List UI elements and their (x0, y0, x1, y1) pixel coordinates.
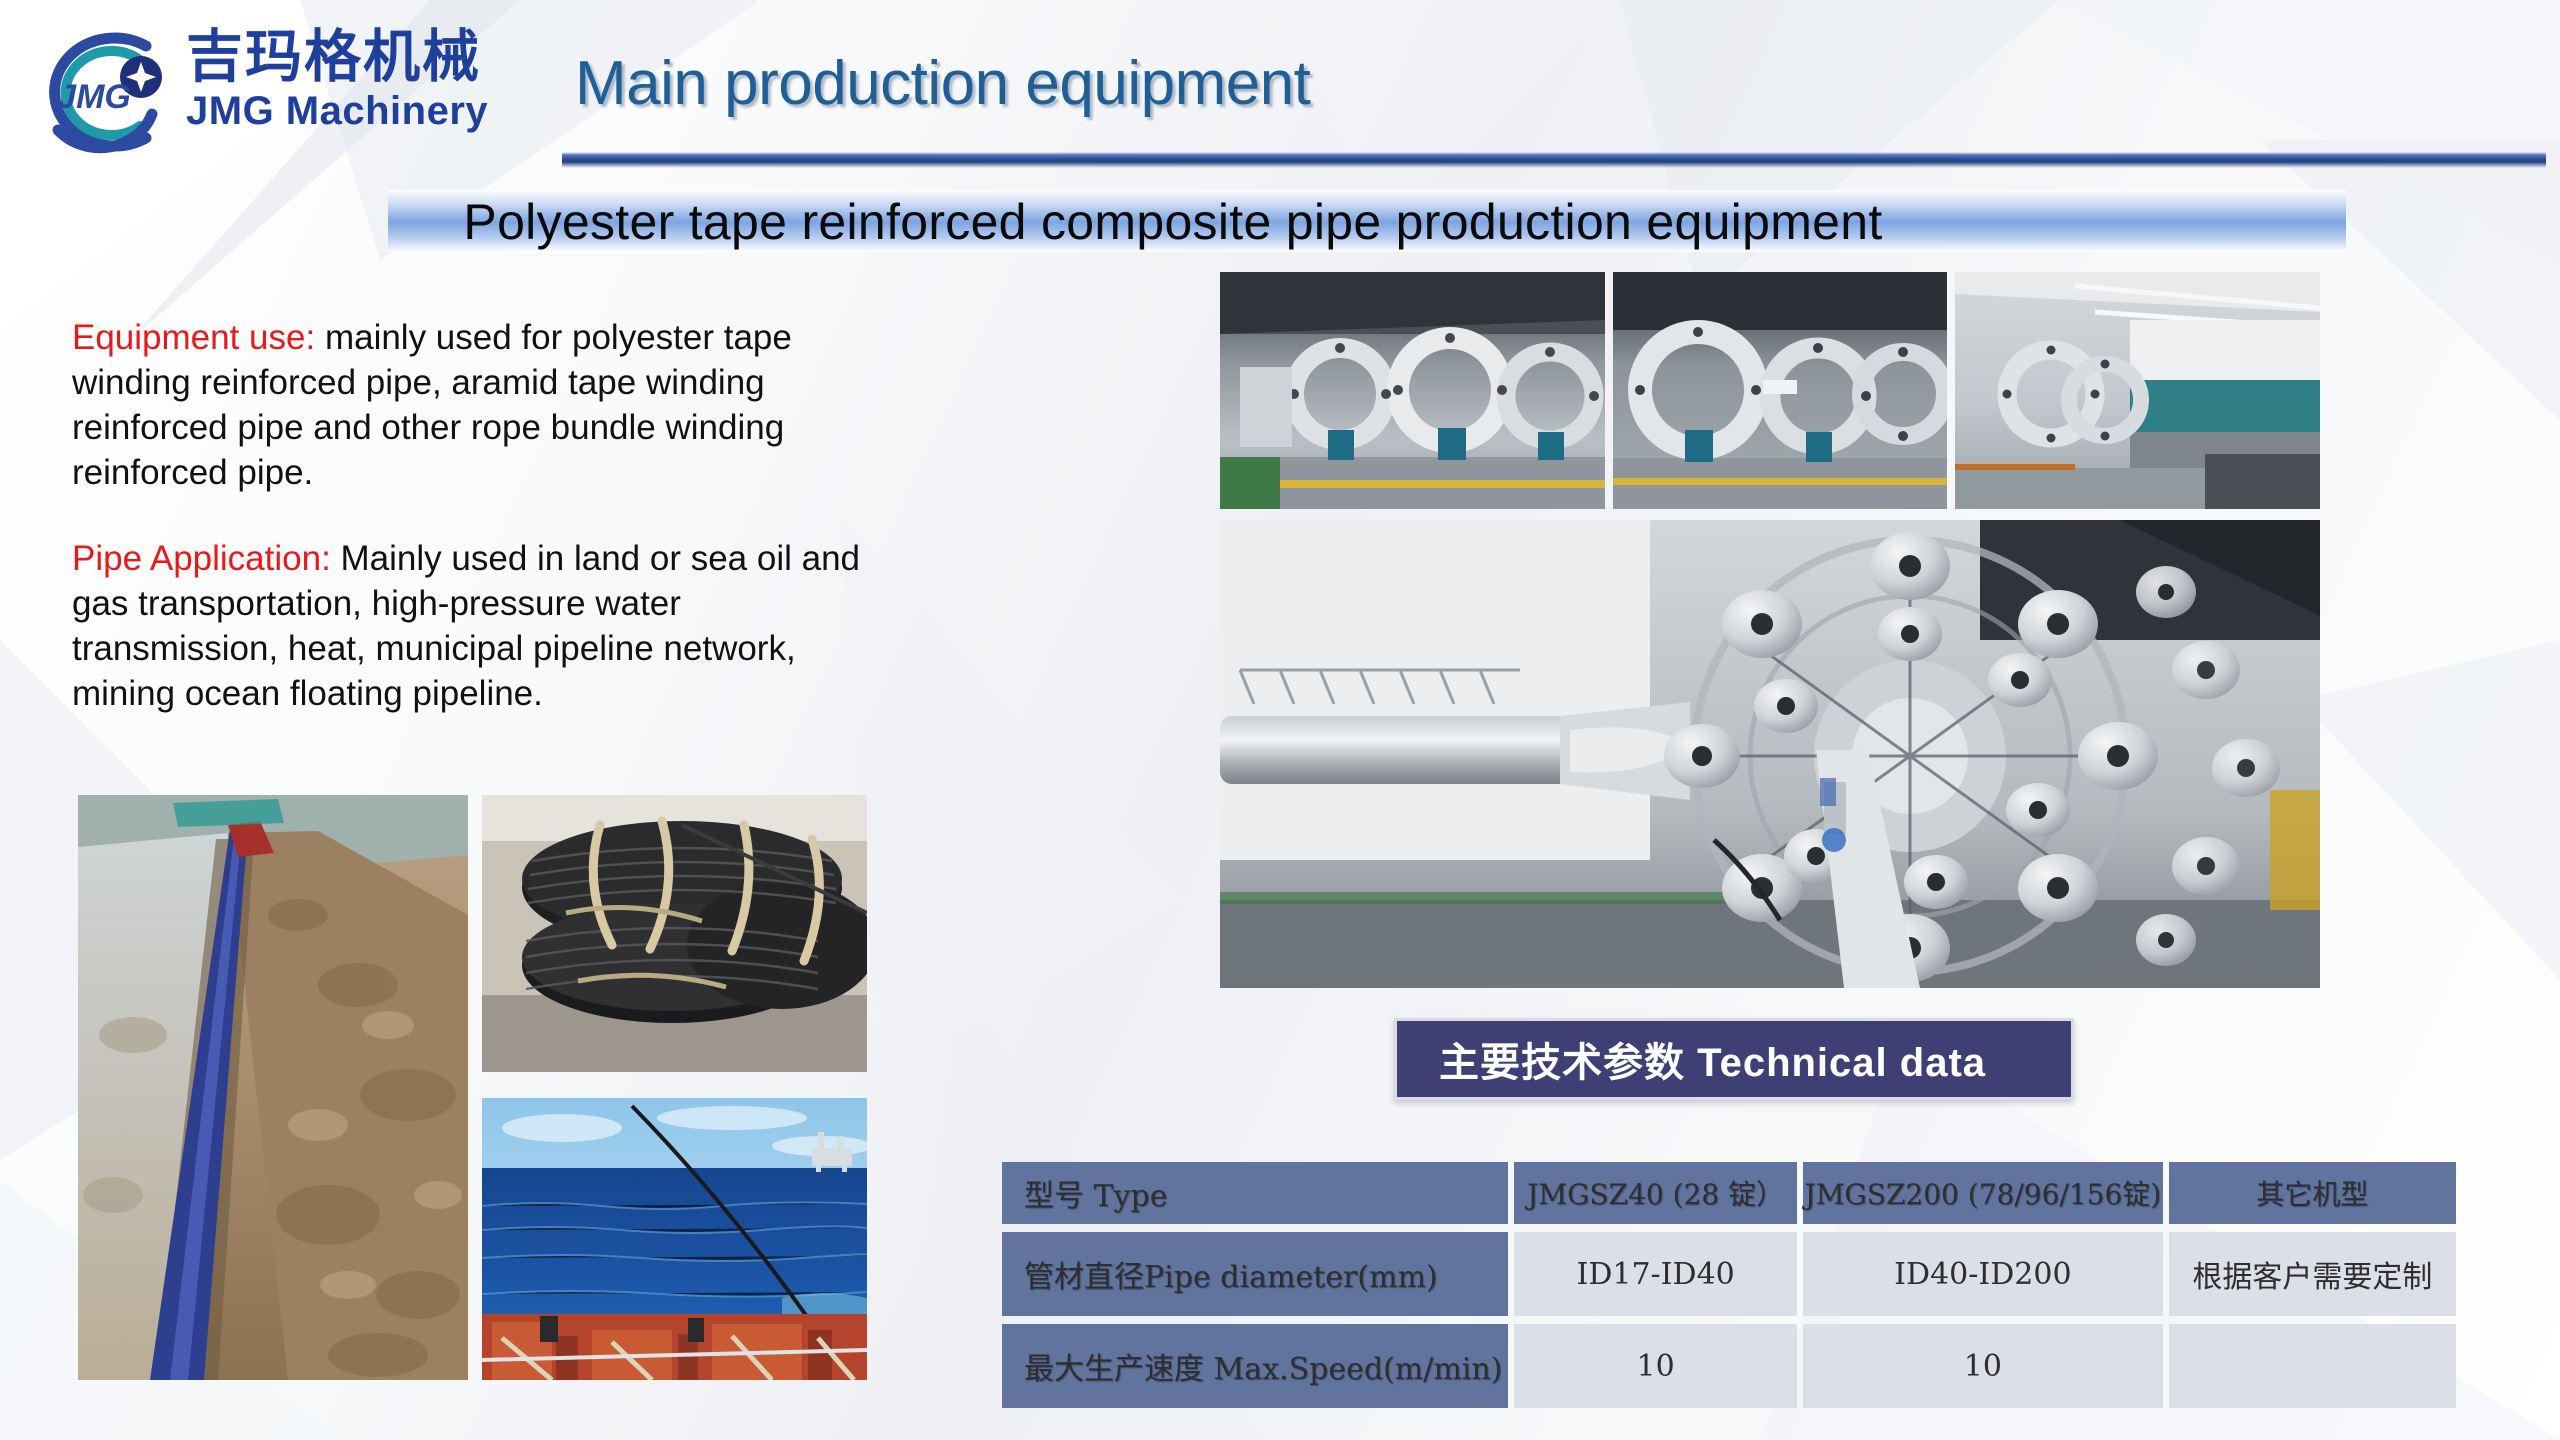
factory-winding-machines-row-image (1220, 272, 1605, 509)
table-cell-header-model-3: 其它机型 (2169, 1162, 2456, 1224)
page-title: Main production equipment (575, 48, 1310, 119)
paragraph-lead-pipe-application: Pipe Application: (72, 539, 331, 578)
page-header: JMG 吉玛格机械 JMG Machinery Main production … (0, 0, 2560, 185)
photo-factory-winding-machines-angle (1613, 272, 1947, 509)
description-copy: Equipment use: mainly used for polyester… (72, 315, 872, 716)
table-cell-value (2169, 1324, 2456, 1408)
factory-production-line-hall-image (1955, 272, 2320, 509)
svg-text:JMG: JMG (57, 78, 131, 116)
brand-name-en: JMG Machinery (186, 90, 488, 132)
table-cell-header-model-2: JMGSZ200 (78/96/156锭) (1803, 1162, 2163, 1224)
table-row: 最大生产速度 Max.Speed(m/min) 10 10 (1002, 1324, 2456, 1408)
brand-name-cn: 吉玛格机械 (186, 28, 488, 86)
table-cell-label: 管材直径Pipe diameter(mm) (1002, 1232, 1508, 1316)
table-cell-label: 最大生产速度 Max.Speed(m/min) (1002, 1324, 1508, 1408)
paragraph-lead-equipment-use: Equipment use: (72, 318, 315, 357)
title-underline-rule (562, 152, 2546, 168)
pipe-winding-machine-closeup-image (1220, 520, 2320, 988)
photo-offshore-sea-pipeline (482, 1098, 867, 1380)
table-cell-value: 10 (1514, 1324, 1797, 1408)
table-row: 型号 Type JMGSZ40 (28 锭） JMGSZ200 (78/96/1… (1002, 1162, 2456, 1224)
jmg-logo-icon: JMG (28, 22, 178, 162)
technical-data-banner: 主要技术参数 Technical data (1394, 1018, 2074, 1100)
photo-coiled-composite-pipe (482, 795, 867, 1072)
photo-factory-production-line-hall (1955, 272, 2320, 509)
paragraph-equipment-use: Equipment use: mainly used for polyester… (72, 315, 872, 496)
paragraph-pipe-application: Pipe Application: Mainly used in land or… (72, 536, 872, 717)
table-cell-header-model-1: JMGSZ40 (28 锭） (1514, 1162, 1797, 1224)
specification-table: 型号 Type JMGSZ40 (28 锭） JMGSZ200 (78/96/1… (996, 1154, 2462, 1416)
table-cell-value: ID17-ID40 (1514, 1232, 1797, 1316)
buried-pipeline-trench-image (78, 795, 468, 1380)
photo-pipe-winding-machine-closeup (1220, 520, 2320, 988)
table-cell-label: 型号 Type (1002, 1162, 1508, 1224)
jmg-logo[interactable]: JMG (28, 22, 178, 162)
coiled-composite-pipe-image (482, 795, 867, 1072)
offshore-sea-pipeline-image (482, 1098, 867, 1380)
page-subtitle: Polyester tape reinforced composite pipe… (0, 182, 2346, 262)
factory-winding-machines-angle-image (1613, 272, 1947, 509)
table-cell-value: 10 (1803, 1324, 2163, 1408)
brand-name-block: 吉玛格机械 JMG Machinery (186, 28, 488, 132)
photo-buried-pipeline-trench (78, 795, 468, 1380)
table-cell-value: 根据客户需要定制 (2169, 1232, 2456, 1316)
technical-data-banner-text: 主要技术参数 Technical data (1397, 1030, 1986, 1088)
table-row: 管材直径Pipe diameter(mm) ID17-ID40 ID40-ID2… (1002, 1232, 2456, 1316)
photo-factory-winding-machines-row (1220, 272, 1605, 509)
table-cell-value: ID40-ID200 (1803, 1232, 2163, 1316)
